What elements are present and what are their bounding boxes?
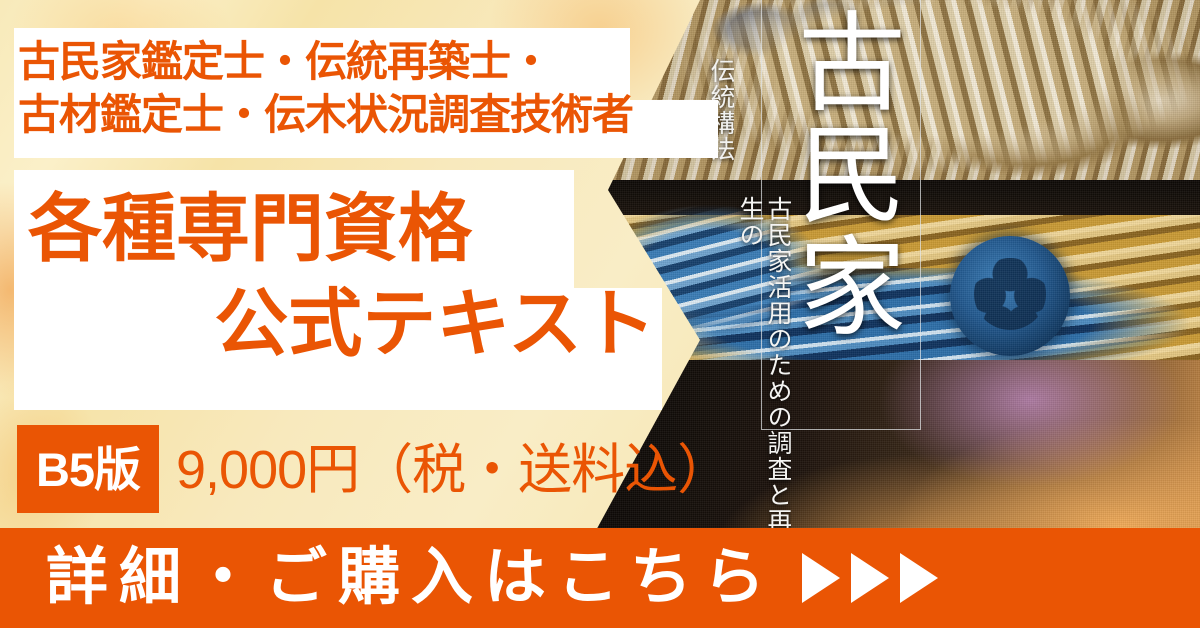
cta-arrow-group [802, 553, 938, 603]
triangle-right-icon [900, 553, 938, 603]
book-subtitle-main: 古民家活用のための調査と再生の [735, 196, 791, 556]
cta-bar[interactable]: 詳細・ご購入はこちら [0, 528, 1200, 628]
triangle-right-icon [851, 553, 889, 603]
roof-tile-crest-icon [950, 236, 1070, 356]
format-badge: B5版 [17, 425, 159, 513]
qualifications-text: 古民家鑑定士・伝統再築士・ 古材鑑定士・伝木状況調査技術者 [18, 36, 633, 142]
book-title: 古民家 [784, 6, 904, 342]
promo-banner: 古民家 伝統構法 古民家活用のための調査と再生の 古民家鑑定士・伝統再築士・ 古… [0, 0, 1200, 628]
main-headline-line1: 各種専門資格 [14, 182, 664, 277]
cta-label: 詳細・ご購入はこちら [46, 547, 776, 609]
format-badge-label: B5版 [36, 446, 140, 493]
main-headline: 各種専門資格 公式テキスト [14, 182, 664, 371]
main-headline-line2: 公式テキスト [14, 277, 664, 372]
price-text: 9,000円（税・送料込） [176, 432, 730, 508]
triangle-right-icon [802, 553, 840, 603]
